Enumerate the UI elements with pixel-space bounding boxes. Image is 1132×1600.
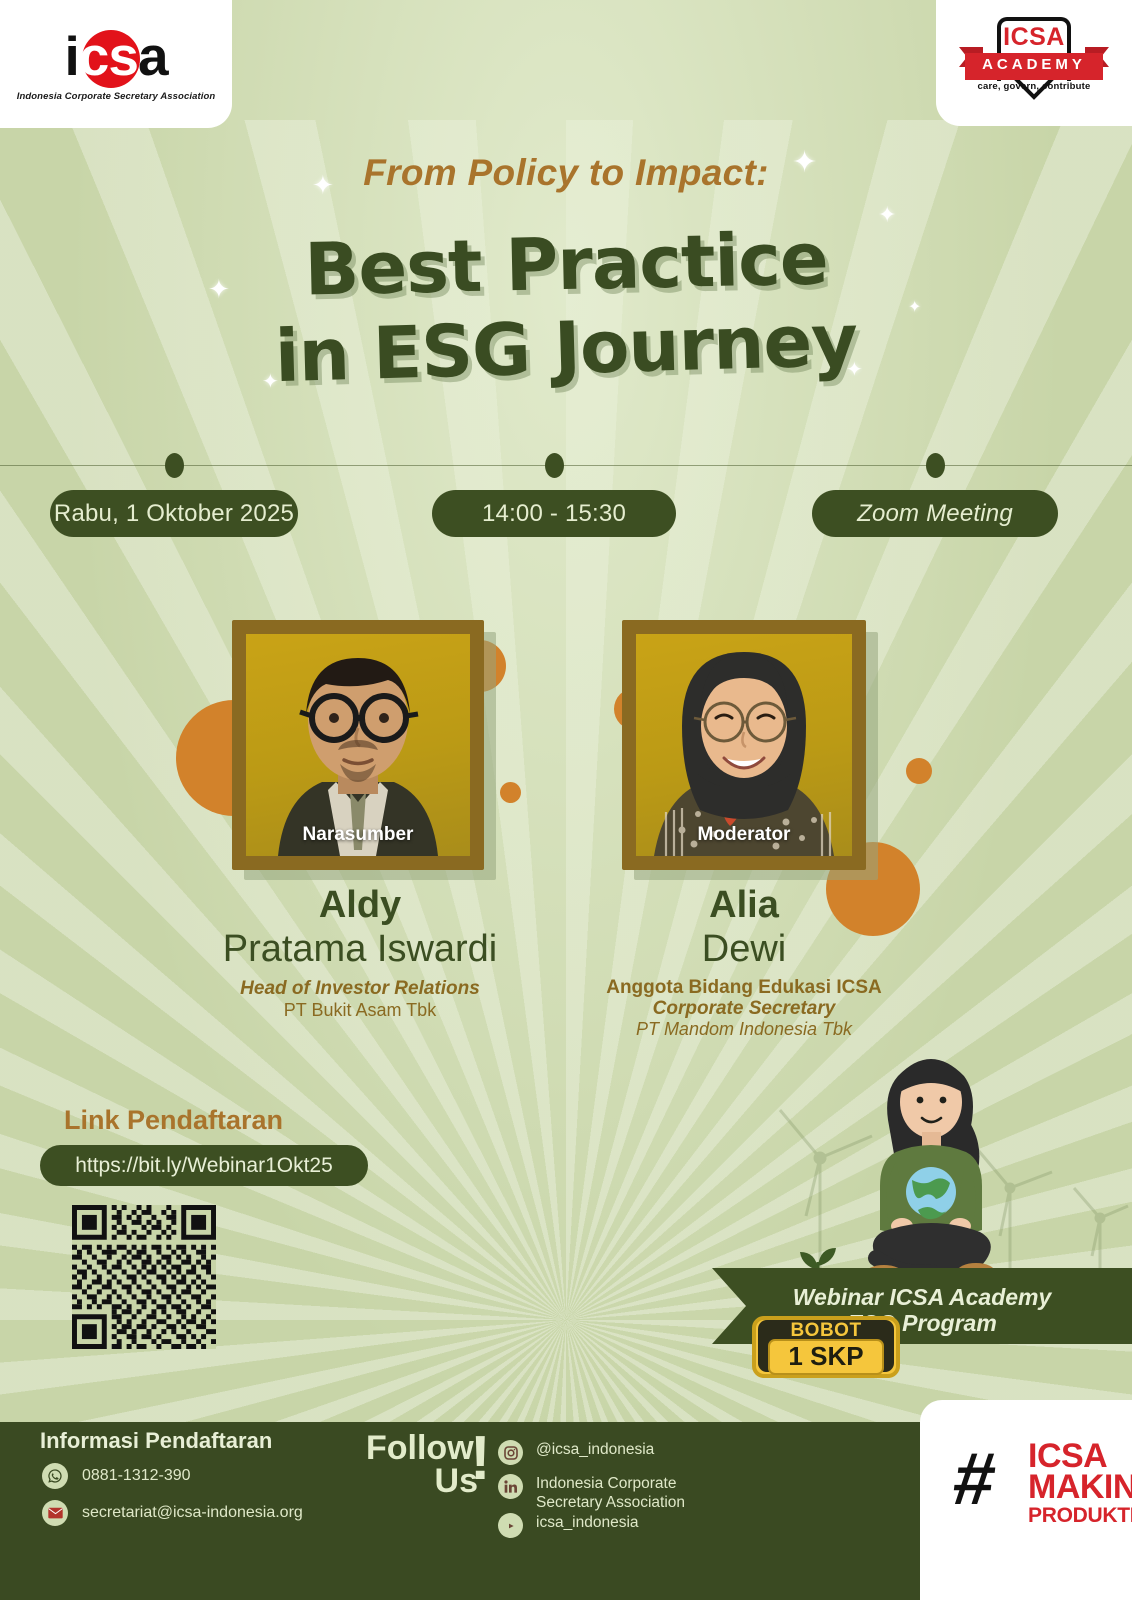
icsa-logo: icsa Indonesia Corporate Secretary Assoc… [0, 0, 232, 128]
speaker-1-role-tag: Narasumber [246, 824, 470, 846]
skp-badge-value: 1 SKP [768, 1341, 884, 1372]
hashtag-line2: MAKIN [1028, 1471, 1132, 1503]
icsa-letter-a: a [138, 25, 168, 87]
icsa-wordmark: icsa [28, 26, 204, 88]
speaker-1-portrait [246, 634, 470, 856]
event-date-pill: Rabu, 1 Oktober 2025 [50, 490, 298, 537]
icsa-letter-i: i [64, 25, 78, 87]
speaker-1-company: PT Bukit Asam Tbk [180, 1000, 540, 1021]
academy-shield: ICSA ACADEMY care, govern, contribute [959, 15, 1109, 111]
speaker-2-last-name: Dewi [564, 928, 924, 971]
event-platform-pill: Zoom Meeting [812, 490, 1058, 537]
speaker-2-company: PT Mandom Indonesia Tbk [564, 1019, 924, 1040]
speaker-1-first-name: Aldy [180, 884, 540, 927]
timeline-dot-date [165, 453, 184, 478]
speaker-2-portrait [636, 634, 852, 856]
linkedin-handle-line2: Secretary Association [536, 1493, 685, 1512]
program-banner-line1: Webinar ICSA Academy [712, 1284, 1132, 1311]
footer-email-row[interactable]: secretariat@icsa-indonesia.org [42, 1500, 303, 1526]
youtube-icon [498, 1513, 523, 1538]
speaker-2-role-tag: Moderator [636, 824, 852, 846]
speaker-2-org-role: Anggota Bidang Edukasi ICSA [564, 977, 924, 999]
speaker-1-photo: Narasumber [246, 634, 470, 856]
icsa-tagline: Indonesia Corporate Secretary Associatio… [17, 91, 216, 102]
linkedin-icon [498, 1474, 523, 1499]
icsa-letter-s: s [108, 25, 138, 87]
speaker-2-photo: Moderator [636, 634, 852, 856]
hashtag-symbol: # [949, 1442, 999, 1516]
academy-motto: care, govern, contribute [959, 81, 1109, 92]
academy-label: ACADEMY [959, 56, 1109, 73]
poster-eyebrow: From Policy to Impact: [0, 152, 1132, 194]
registration-link[interactable]: https://bit.ly/Webinar1Okt25 [40, 1145, 368, 1186]
footer-whatsapp-row[interactable]: 0881-1312-390 [42, 1463, 191, 1489]
linkedin-handle: Indonesia Corporate Secretary Associatio… [536, 1474, 685, 1512]
email-icon [42, 1500, 68, 1526]
speaker-1-last-name: Pratama Iswardi [180, 928, 540, 971]
icsa-letter-c: c [79, 25, 109, 87]
icsa-academy-logo: ICSA ACADEMY care, govern, contribute [936, 0, 1132, 126]
whatsapp-icon [42, 1463, 68, 1489]
footer-whatsapp-number: 0881-1312-390 [82, 1467, 191, 1485]
timeline-dot-platform [926, 453, 945, 478]
social-youtube-row[interactable]: icsa_indonesia [498, 1513, 639, 1538]
social-linkedin-row[interactable]: Indonesia Corporate Secretary Associatio… [498, 1474, 685, 1512]
instagram-handle: @icsa_indonesia [536, 1440, 654, 1459]
speaker-2-first-name: Alia [564, 884, 924, 927]
social-instagram-row[interactable]: @icsa_indonesia [498, 1440, 654, 1465]
timeline-dot-time [545, 453, 564, 478]
hashtag-line3: PRODUKTIF [1028, 1504, 1132, 1528]
follow-line2: Us [366, 1465, 478, 1498]
footer-email-address: secretariat@icsa-indonesia.org [82, 1504, 303, 1522]
youtube-handle: icsa_indonesia [536, 1513, 639, 1532]
footer-info-title: Informasi Pendaftaran [40, 1428, 272, 1454]
follow-us-label: Follow Us [366, 1432, 478, 1498]
decor-circle-tiny-right2 [906, 758, 932, 784]
hashtag-logo-card: # ICSA MAKIN PRODUKTIF [920, 1400, 1132, 1600]
event-time-pill: 14:00 - 15:30 [432, 490, 676, 537]
speaker-1-photo-frame: Narasumber [232, 620, 484, 870]
speaker-2-position: Corporate Secretary [564, 998, 924, 1020]
speaker-2-photo-frame: Moderator [622, 620, 866, 870]
follow-exclamation: ! [470, 1428, 491, 1490]
person-illustration [836, 1028, 1026, 1298]
instagram-icon [498, 1440, 523, 1465]
linkedin-handle-line1: Indonesia Corporate [536, 1474, 685, 1493]
registration-heading: Link Pendaftaran [64, 1105, 283, 1136]
decor-circle-tiny-right [500, 782, 521, 803]
registration-qr-code[interactable] [72, 1205, 216, 1349]
webinar-poster: ✦ ✦ ✦ ✦ ✦ ✦ ✦ icsa Indonesia Corporate S… [0, 0, 1132, 1600]
speaker-1-position: Head of Investor Relations [180, 978, 540, 1000]
icsa-letters: icsa [28, 26, 204, 88]
